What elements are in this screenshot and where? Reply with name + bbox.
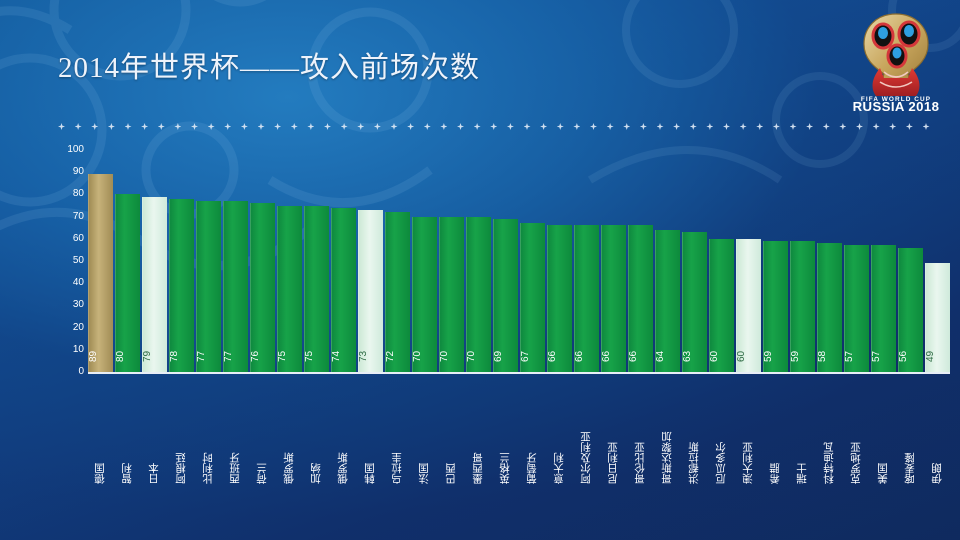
- y-axis: 1009080706050403020100: [52, 150, 84, 372]
- bar[interactable]: 59: [763, 241, 788, 372]
- y-axis-tick: 0: [52, 367, 84, 377]
- x-axis-label-text: 荷兰: [257, 384, 268, 484]
- x-axis-label: 智利: [115, 384, 140, 484]
- page-title: 2014年世界杯——攻入前场次数: [58, 44, 480, 86]
- bar-column[interactable]: 73: [358, 150, 383, 372]
- bar-value-label: 60: [737, 344, 761, 368]
- bar-value-label: 78: [170, 344, 194, 368]
- x-axis-label-text: 俄罗斯: [338, 384, 349, 484]
- x-axis-label: 巴西: [439, 384, 464, 484]
- x-axis-label: 阿尔及利亚: [574, 384, 599, 484]
- x-axis-label-text: 韩国: [365, 384, 376, 484]
- bar-column[interactable]: 63: [682, 150, 707, 372]
- bar[interactable]: 78: [169, 199, 194, 372]
- bar-value-label: 70: [467, 344, 491, 368]
- bar-column[interactable]: 58: [817, 150, 842, 372]
- bar-column[interactable]: 66: [547, 150, 572, 372]
- x-axis-label: 洪都拉斯: [682, 384, 707, 484]
- bar-column[interactable]: 80: [115, 150, 140, 372]
- bar-value-label: 64: [656, 344, 680, 368]
- divider-diamond: [790, 123, 797, 130]
- divider-diamond: [291, 123, 298, 130]
- x-axis-label: 科特迪瓦: [817, 384, 842, 484]
- bar[interactable]: 72: [385, 212, 410, 372]
- divider-diamond: [590, 123, 597, 130]
- x-axis-label: 伊朗: [925, 384, 950, 484]
- bar[interactable]: 66: [628, 225, 653, 372]
- bar-value-label: 74: [332, 344, 356, 368]
- divider-diamond: [706, 123, 713, 130]
- bar[interactable]: 69: [493, 219, 518, 372]
- y-axis-tick: 80: [52, 189, 84, 199]
- x-axis-labels: 德国智利日本阿根廷比利时西班牙荷兰俄罗斯加纳俄罗斯韩国乌拉圭法国巴西墨西哥英格兰…: [88, 384, 950, 484]
- x-axis-label: 英格兰: [493, 384, 518, 484]
- bar[interactable]: 77: [196, 201, 221, 372]
- x-axis-label-text: 英格兰: [500, 384, 511, 484]
- y-axis-tick: 90: [52, 167, 84, 177]
- bar-column[interactable]: 75: [277, 150, 302, 372]
- plot-area: 8980797877777675757473727070706967666666…: [88, 150, 950, 372]
- x-axis-label-text: 乌拉圭: [392, 384, 403, 484]
- bar-value-label: 58: [818, 344, 842, 368]
- divider-diamond: [740, 123, 747, 130]
- bar[interactable]: 57: [871, 245, 896, 372]
- divider-diamond: [357, 123, 364, 130]
- bar-column[interactable]: 56: [898, 150, 923, 372]
- bar-column[interactable]: 76: [250, 150, 275, 372]
- divider-diamond: [690, 123, 697, 130]
- divider-diamond: [856, 123, 863, 130]
- divider-diamond: [873, 123, 880, 130]
- divider-diamond: [58, 123, 65, 130]
- bar[interactable]: 77: [223, 201, 248, 372]
- y-axis-tick: 60: [52, 234, 84, 244]
- bar-value-label: 70: [413, 344, 437, 368]
- x-axis-label-text: 法国: [419, 384, 430, 484]
- bar-value-label: 56: [899, 344, 923, 368]
- bar-value-label: 60: [710, 344, 734, 368]
- y-axis-tick: 20: [52, 323, 84, 333]
- bar-column[interactable]: 66: [628, 150, 653, 372]
- bar-value-label: 49: [926, 344, 950, 368]
- x-axis-label-text: 俄罗斯: [284, 384, 295, 484]
- divider-diamond: [573, 123, 580, 130]
- divider-diamond: [474, 123, 481, 130]
- bar[interactable]: 66: [574, 225, 599, 372]
- divider-diamond: [424, 123, 431, 130]
- divider-diamond: [224, 123, 231, 130]
- bar-column[interactable]: 70: [439, 150, 464, 372]
- bar-column[interactable]: 60: [736, 150, 761, 372]
- bar-column[interactable]: 72: [385, 150, 410, 372]
- x-axis-label-text: 澳大利亚: [743, 384, 754, 484]
- fifa-world-cup-logo: FIFA WORLD CUP RUSSIA 2018: [850, 8, 942, 112]
- bar-value-label: 66: [629, 344, 653, 368]
- x-axis-label-text: 哥斯达黎加: [662, 384, 673, 484]
- bar-value-label: 77: [224, 344, 248, 368]
- divider-diamond: [490, 123, 497, 130]
- divider-diamond: [623, 123, 630, 130]
- bar[interactable]: 63: [682, 232, 707, 372]
- divider-diamond: [307, 123, 314, 130]
- bar-column[interactable]: 70: [412, 150, 437, 372]
- bar-column[interactable]: 77: [223, 150, 248, 372]
- divider-diamond: [457, 123, 464, 130]
- x-axis-label-text: 加纳: [311, 384, 322, 484]
- x-axis-label: 荷兰: [250, 384, 275, 484]
- divider-diamond: [158, 123, 165, 130]
- bar[interactable]: 66: [601, 225, 626, 372]
- x-axis-label-text: 哥伦比亚: [635, 384, 646, 484]
- x-axis-label: 墨西哥: [466, 384, 491, 484]
- x-axis-label-text: 德国: [95, 384, 106, 484]
- slide-canvas: 2014年世界杯——攻入前场次数: [0, 0, 960, 540]
- bar[interactable]: 66: [547, 225, 572, 372]
- x-axis-label-text: 阿尔及利亚: [581, 384, 592, 484]
- bar[interactable]: 75: [277, 206, 302, 373]
- bar[interactable]: 59: [790, 241, 815, 372]
- x-axis-label-text: 美国: [878, 384, 889, 484]
- bar-column[interactable]: 57: [871, 150, 896, 372]
- x-axis-label-text: 伊朗: [932, 384, 943, 484]
- bar-value-label: 75: [278, 344, 302, 368]
- divider-diamond: [91, 123, 98, 130]
- bar-column[interactable]: 77: [196, 150, 221, 372]
- bar[interactable]: 60: [709, 239, 734, 372]
- x-axis-label: 西班牙: [223, 384, 248, 484]
- x-axis-label-text: 智利: [122, 384, 133, 484]
- x-axis-label: 葡萄牙: [520, 384, 545, 484]
- x-axis-label: 希腊: [763, 384, 788, 484]
- bar-column[interactable]: 64: [655, 150, 680, 372]
- bar-value-label: 80: [116, 344, 140, 368]
- divider-diamond: [923, 123, 930, 130]
- x-axis-label: 俄罗斯: [331, 384, 356, 484]
- x-axis-label-text: 日本: [149, 384, 160, 484]
- bar[interactable]: 89: [88, 174, 113, 372]
- bar-value-label: 66: [602, 344, 626, 368]
- x-axis-label-text: 科特迪瓦: [824, 384, 835, 484]
- bar-column[interactable]: 69: [493, 150, 518, 372]
- bar[interactable]: 76: [250, 203, 275, 372]
- x-axis-label: 厄瓜多尔: [709, 384, 734, 484]
- bar[interactable]: 73: [358, 210, 383, 372]
- bar[interactable]: 64: [655, 230, 680, 372]
- divider-diamond: [391, 123, 398, 130]
- bar-column[interactable]: 59: [790, 150, 815, 372]
- x-axis-label: 澳大利亚: [736, 384, 761, 484]
- x-axis-label-text: 墨西哥: [473, 384, 484, 484]
- bar-value-label: 73: [359, 344, 383, 368]
- divider-diamond: [507, 123, 514, 130]
- bar-column[interactable]: 60: [709, 150, 734, 372]
- x-axis-label: 德国: [88, 384, 113, 484]
- y-axis-tick: 30: [52, 300, 84, 310]
- x-axis-label: 喀麦隆: [898, 384, 923, 484]
- divider-diamond: [889, 123, 896, 130]
- x-axis-label: 哥斯达黎加: [655, 384, 680, 484]
- bar-value-label: 66: [575, 344, 599, 368]
- bar-column[interactable]: 70: [466, 150, 491, 372]
- bar-column[interactable]: 75: [304, 150, 329, 372]
- logo-line2: RUSSIA 2018: [853, 99, 940, 112]
- divider-diamond: [673, 123, 680, 130]
- divider-diamond: [374, 123, 381, 130]
- divider-diamond: [191, 123, 198, 130]
- bar[interactable]: 80: [115, 194, 140, 372]
- divider-diamond: [756, 123, 763, 130]
- x-axis-label-text: 尼日利亚: [608, 384, 619, 484]
- divider-diamond: [75, 123, 82, 130]
- bar-column[interactable]: 67: [520, 150, 545, 372]
- bar-value-label: 79: [143, 344, 167, 368]
- divider-diamond: [108, 123, 115, 130]
- bar-column[interactable]: 66: [574, 150, 599, 372]
- x-axis-label: 日本: [142, 384, 167, 484]
- x-axis-label: 乌拉圭: [385, 384, 410, 484]
- divider-diamond: [125, 123, 132, 130]
- bar[interactable]: 58: [817, 243, 842, 372]
- x-axis-label: 克罗地亚: [844, 384, 869, 484]
- bar-column[interactable]: 66: [601, 150, 626, 372]
- bar-value-label: 69: [494, 344, 518, 368]
- x-axis-label-text: 阿根廷: [176, 384, 187, 484]
- bar[interactable]: 74: [331, 208, 356, 372]
- divider-diamond: [258, 123, 265, 130]
- y-axis-tick: 40: [52, 278, 84, 288]
- x-axis-label: 俄罗斯: [277, 384, 302, 484]
- bar-value-label: 67: [521, 344, 545, 368]
- divider-diamond: [208, 123, 215, 130]
- bar-column[interactable]: 59: [763, 150, 788, 372]
- bar-value-label: 57: [872, 344, 896, 368]
- bar-value-label: 66: [548, 344, 572, 368]
- divider-diamond: [141, 123, 148, 130]
- x-axis-label-text: 希腊: [770, 384, 781, 484]
- bar-value-label: 70: [440, 344, 464, 368]
- x-axis-label-text: 喀麦隆: [905, 384, 916, 484]
- bar-value-label: 76: [251, 344, 275, 368]
- divider-diamond: [657, 123, 664, 130]
- divider-diamond: [839, 123, 846, 130]
- x-axis-label: 哥伦比亚: [628, 384, 653, 484]
- bar[interactable]: 70: [466, 217, 491, 372]
- bar-column[interactable]: 74: [331, 150, 356, 372]
- x-axis-label-text: 意大利: [554, 384, 565, 484]
- bar-column[interactable]: 78: [169, 150, 194, 372]
- bar-value-label: 59: [791, 344, 815, 368]
- y-axis-tick: 100: [52, 145, 84, 155]
- divider-diamond: [806, 123, 813, 130]
- divider-diamond: [557, 123, 564, 130]
- decorative-divider: [58, 121, 930, 132]
- bar[interactable]: 57: [844, 245, 869, 372]
- divider-diamond: [906, 123, 913, 130]
- x-axis-label-text: 巴西: [446, 384, 457, 484]
- x-axis-label-text: 西班牙: [230, 384, 241, 484]
- divider-diamond: [823, 123, 830, 130]
- divider-diamond: [341, 123, 348, 130]
- bar[interactable]: 79: [142, 197, 167, 372]
- bar-value-label: 77: [197, 344, 221, 368]
- bar-column[interactable]: 79: [142, 150, 167, 372]
- x-axis-label: 阿根廷: [169, 384, 194, 484]
- divider-diamond: [174, 123, 181, 130]
- bar[interactable]: 70: [412, 217, 437, 372]
- x-axis-label-text: 瑞士: [797, 384, 808, 484]
- x-axis-label: 美国: [871, 384, 896, 484]
- x-axis-label: 瑞士: [790, 384, 815, 484]
- x-axis-label: 意大利: [547, 384, 572, 484]
- bar[interactable]: 75: [304, 206, 329, 373]
- x-axis-line: [88, 372, 950, 374]
- bar-value-label: 57: [845, 344, 869, 368]
- bar-column[interactable]: 57: [844, 150, 869, 372]
- x-axis-label-text: 洪都拉斯: [689, 384, 700, 484]
- y-axis-tick: 50: [52, 256, 84, 266]
- bar-value-label: 89: [89, 344, 113, 368]
- x-axis-label: 加纳: [304, 384, 329, 484]
- divider-diamond: [640, 123, 647, 130]
- divider-diamond: [773, 123, 780, 130]
- x-axis-label-text: 比利时: [203, 384, 214, 484]
- x-axis-label: 法国: [412, 384, 437, 484]
- bar[interactable]: 49: [925, 263, 950, 372]
- bar-column[interactable]: 89: [88, 150, 113, 372]
- divider-diamond: [723, 123, 730, 130]
- bar-value-label: 72: [386, 344, 410, 368]
- x-axis-label-text: 葡萄牙: [527, 384, 538, 484]
- divider-diamond: [440, 123, 447, 130]
- divider-diamond: [274, 123, 281, 130]
- bar-value-label: 63: [683, 344, 707, 368]
- divider-diamond: [241, 123, 248, 130]
- y-axis-tick: 10: [52, 345, 84, 355]
- divider-diamond: [324, 123, 331, 130]
- bar-chart: 1009080706050403020100 89807978777776757…: [52, 150, 950, 380]
- x-axis-label-text: 厄瓜多尔: [716, 384, 727, 484]
- y-axis-tick: 70: [52, 212, 84, 222]
- bar[interactable]: 70: [439, 217, 464, 372]
- divider-diamond: [407, 123, 414, 130]
- bar-column[interactable]: 49: [925, 150, 950, 372]
- x-axis-label: 尼日利亚: [601, 384, 626, 484]
- divider-diamond: [540, 123, 547, 130]
- bar[interactable]: 60: [736, 239, 761, 372]
- divider-diamond: [607, 123, 614, 130]
- x-axis-label-text: 克罗地亚: [851, 384, 862, 484]
- bar[interactable]: 67: [520, 223, 545, 372]
- x-axis-label: 比利时: [196, 384, 221, 484]
- bar-value-label: 59: [764, 344, 788, 368]
- divider-diamond: [524, 123, 531, 130]
- bar[interactable]: 56: [898, 248, 923, 372]
- x-axis-label: 韩国: [358, 384, 383, 484]
- bar-value-label: 75: [305, 344, 329, 368]
